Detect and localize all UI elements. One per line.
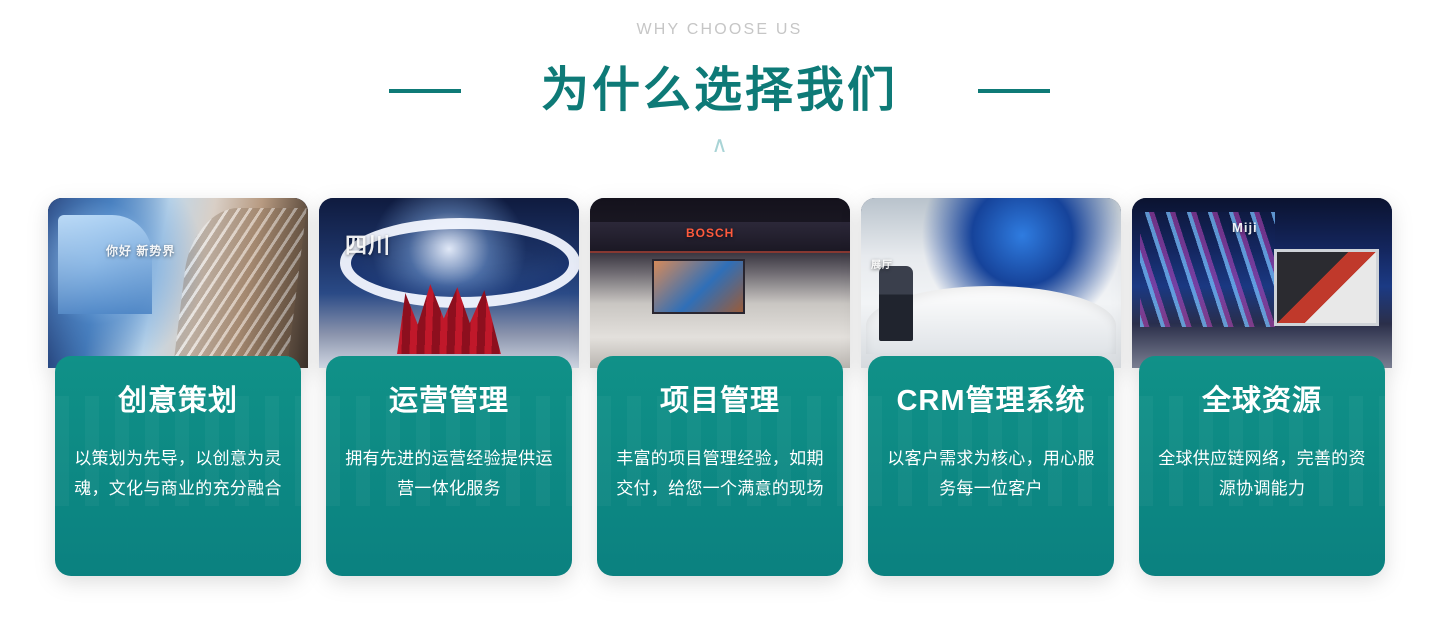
- exhibition-lobby-staircase-photo: [48, 198, 308, 368]
- section-title-row: 为什么选择我们: [0, 60, 1439, 122]
- card-description: 以策划为先导，以创意为灵魂，文化与商业的充分融合: [71, 444, 285, 504]
- card-description: 丰富的项目管理经验，如期交付，给您一个满意的现场: [613, 444, 827, 504]
- card-text-panel: CRM管理系统 以客户需求为核心，用心服务每一位客户: [868, 356, 1114, 576]
- page-title: 为什么选择我们: [541, 60, 898, 122]
- card-description: 全球供应链网络，完善的资源协调能力: [1155, 444, 1369, 504]
- card-title: 创意策划: [71, 384, 285, 418]
- card-description: 拥有先进的运营经验提供运营一体化服务: [342, 444, 556, 504]
- card-text-panel: 创意策划 以策划为先导，以创意为灵魂，文化与商业的充分融合: [55, 356, 301, 576]
- feature-card[interactable]: Miji 全球资源 全球供应链网络，完善的资源协调能力: [1132, 198, 1392, 576]
- card-text-panel: 项目管理 丰富的项目管理经验，如期交付，给您一个满意的现场: [597, 356, 843, 576]
- bosch-booth-photo: [590, 198, 850, 368]
- title-rule-right-icon: [978, 89, 1050, 93]
- miji-stage-booth-photo: [1132, 198, 1392, 368]
- card-title: 项目管理: [613, 384, 827, 418]
- card-title: 运营管理: [342, 384, 556, 418]
- card-photo: 你好 新势界: [48, 198, 308, 368]
- digital-exhibition-hall-photo: [861, 198, 1121, 368]
- feature-card[interactable]: 你好 新势界 创意策划 以策划为先导，以创意为灵魂，文化与商业的充分融合: [48, 198, 308, 576]
- card-photo: 四川: [319, 198, 579, 368]
- section-eyebrow: WHY CHOOSE US: [0, 19, 1439, 41]
- feature-card[interactable]: 四川 运营管理 拥有先进的运营经验提供运营一体化服务: [319, 198, 579, 576]
- why-choose-us-section: WHY CHOOSE US 为什么选择我们 ∧ 你好 新势界 创意策划 以策划为…: [0, 0, 1439, 625]
- card-title: CRM管理系统: [884, 384, 1098, 418]
- feature-card[interactable]: BOSCH 项目管理 丰富的项目管理经验，如期交付，给您一个满意的现场: [590, 198, 850, 576]
- sichuan-pavilion-photo: [319, 198, 579, 368]
- card-photo: 展厅: [861, 198, 1121, 368]
- card-photo: BOSCH: [590, 198, 850, 368]
- card-text-panel: 全球资源 全球供应链网络，完善的资源协调能力: [1139, 356, 1385, 576]
- card-text-panel: 运营管理 拥有先进的运营经验提供运营一体化服务: [326, 356, 572, 576]
- title-rule-left-icon: [389, 89, 461, 93]
- card-photo: Miji: [1132, 198, 1392, 368]
- feature-card-list: 你好 新势界 创意策划 以策划为先导，以创意为灵魂，文化与商业的充分融合 四川 …: [48, 198, 1392, 588]
- feature-card[interactable]: 展厅 CRM管理系统 以客户需求为核心，用心服务每一位客户: [861, 198, 1121, 576]
- chevron-up-icon: ∧: [0, 134, 1439, 156]
- section-header: WHY CHOOSE US 为什么选择我们 ∧: [0, 0, 1439, 180]
- card-title: 全球资源: [1155, 384, 1369, 418]
- card-description: 以客户需求为核心，用心服务每一位客户: [884, 444, 1098, 504]
